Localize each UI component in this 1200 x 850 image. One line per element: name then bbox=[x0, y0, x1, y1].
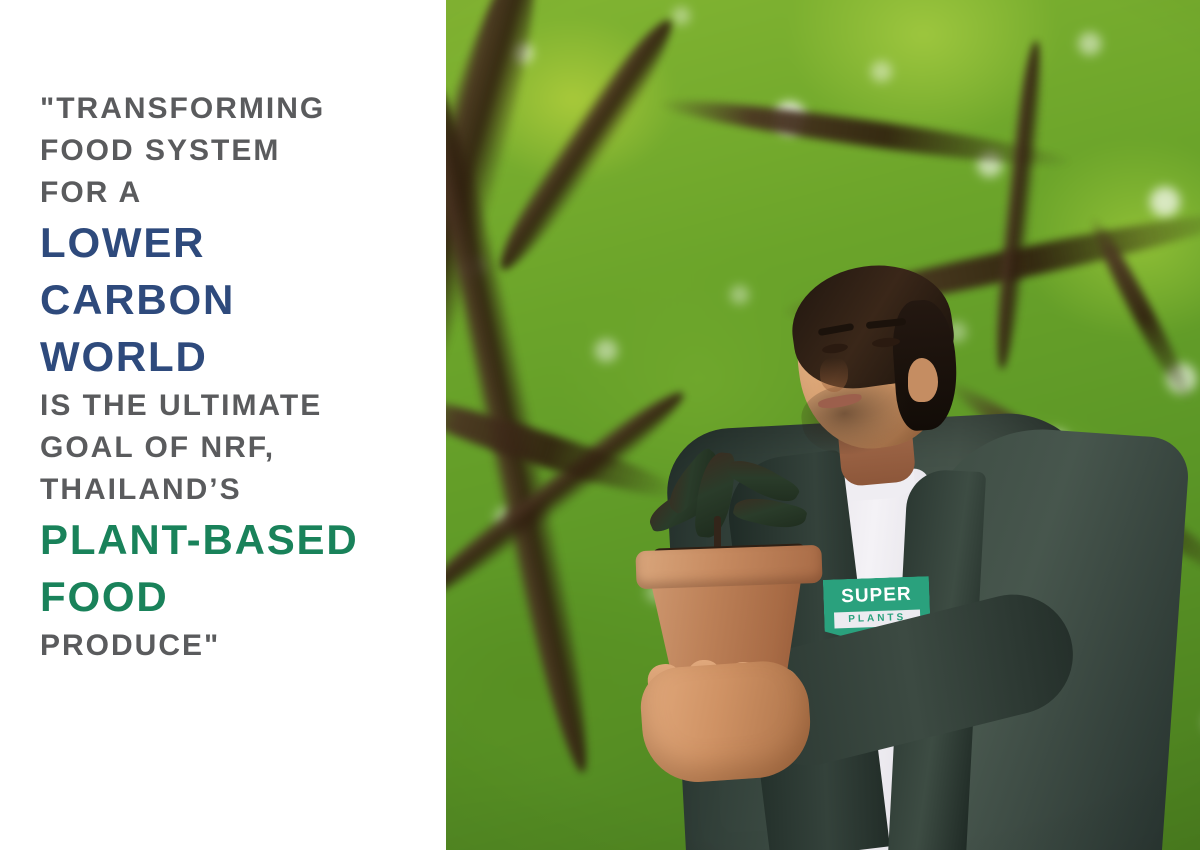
person-figure: SUPER PLANTS bbox=[446, 0, 1200, 850]
pot-rim bbox=[635, 545, 822, 589]
hand bbox=[638, 658, 814, 785]
poster-root: "TRANSFORMING FOOD SYSTEM FOR A LOWER CA… bbox=[0, 0, 1200, 850]
quote-line-2: FOOD SYSTEM bbox=[40, 130, 426, 172]
ear bbox=[908, 358, 938, 402]
quote-panel: "TRANSFORMING FOOD SYSTEM FOR A LOWER CA… bbox=[0, 0, 446, 850]
quote-line-8: GOAL OF NRF, bbox=[40, 427, 426, 469]
quote-line-3: FOR A bbox=[40, 172, 426, 214]
photo-panel: SUPER PLANTS bbox=[446, 0, 1200, 850]
quote-line-12: PRODUCE" bbox=[40, 625, 426, 667]
quote-line-5-highlight-carbon: CARBON bbox=[40, 271, 426, 328]
quote-line-9: THAILAND’S bbox=[40, 469, 426, 511]
tshirt-logo-primary-text: SUPER bbox=[823, 583, 930, 609]
quote-line-11-highlight-food: FOOD bbox=[40, 568, 426, 625]
photo-image: SUPER PLANTS bbox=[446, 0, 1200, 850]
quote-line-4-highlight-lower: LOWER bbox=[40, 214, 426, 271]
quote-line-6-highlight-world: WORLD bbox=[40, 328, 426, 385]
quote-line-7: IS THE ULTIMATE bbox=[40, 385, 426, 427]
quote-line-10-highlight-plant-based: PLANT-BASED bbox=[40, 511, 426, 568]
quote-line-1: "TRANSFORMING bbox=[40, 88, 426, 130]
nose bbox=[820, 358, 848, 392]
